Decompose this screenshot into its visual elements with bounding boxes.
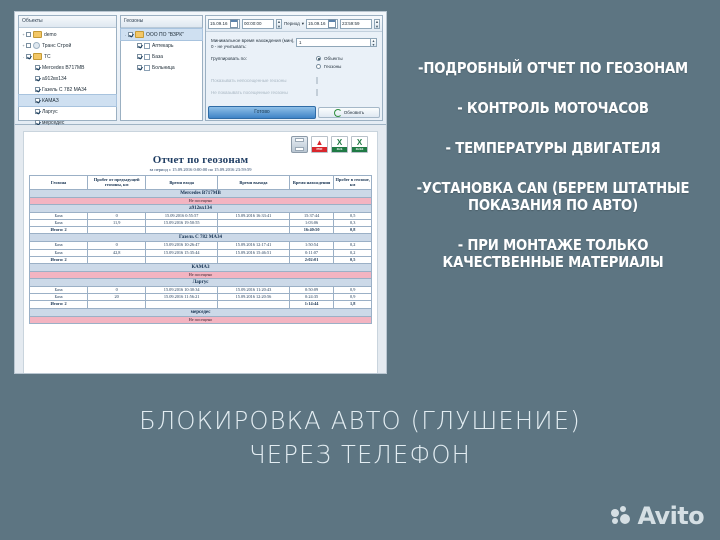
geozone-report-table: ГеозонаПробег от предыдущей геозоны, кмВ…	[29, 175, 372, 324]
hide-visited-setting: Не показывать посещенные геозоны	[211, 90, 377, 96]
geozones-pane-title: Геозоны	[121, 16, 202, 28]
promo-feature-line: - ПРИ МОНТАЖЕ ТОЛЬКО КАЧЕСТВЕННЫЕ МАТЕРИ…	[415, 237, 691, 271]
cell-mileage-prev: 11,9	[88, 220, 146, 227]
tree-item-checkbox[interactable]	[35, 65, 40, 70]
cell-geozone: База	[30, 220, 88, 227]
geozone-icon	[144, 65, 150, 71]
pdf-glyph: ▲	[312, 138, 327, 147]
cell-total-label: Итого: 2	[30, 301, 88, 308]
cell-total-duration: 1:14:44	[289, 301, 333, 308]
cell-duration: 0:50:09	[289, 287, 333, 294]
cell-total-enter	[146, 227, 218, 234]
date-range-toolbar: 15.09.16 00:00:00 ▲▼ Период ▾ 15.09.16 2…	[206, 16, 382, 32]
avito-logo-icon	[611, 506, 633, 526]
promo-feature-line: -УСТАНОВКА CAN (БЕРЕМ ШТАТНЫЕ ПОКАЗАНИЯ …	[415, 180, 691, 214]
objects-pane: Объекты +demo+Транс Строй-ТСMercedes B71…	[18, 15, 117, 121]
refresh-button-label: Обновить	[344, 110, 364, 115]
promo-feature-line: -ПОДРОБНЫЙ ОТЧЕТ ПО ГЕОЗОНАМ	[415, 60, 691, 77]
print-icon[interactable]	[291, 136, 308, 153]
cell-mileage-prev: 20	[88, 294, 146, 301]
cell-exit-time: 15.09.2016 15:46:51	[218, 249, 290, 256]
table-body: Mercedes B717MBНе посещеноa912вх134База0…	[30, 189, 372, 323]
object-tree-item[interactable]: Газель С 782 МА34	[19, 84, 116, 95]
geozone-tree-item[interactable]: Аптекарь	[121, 40, 202, 51]
cell-exit-time	[218, 220, 290, 227]
tree-item-checkbox[interactable]	[35, 76, 40, 81]
objects-pane-title: Объекты	[19, 16, 116, 28]
geozones-pane: Геозоны -ООО ПО "ВЗРК"АптекарьБазаБольни…	[120, 15, 203, 121]
avito-watermark: Avito	[611, 504, 704, 528]
group-header-row: Mercedes B717MB	[30, 189, 372, 197]
tree-item-label: Ларгус	[42, 109, 58, 115]
cell-geozone: База	[30, 242, 88, 249]
group-by-label: Группировать по:	[211, 56, 316, 62]
cell-total-duration: 16:40:50	[289, 227, 333, 234]
cell-mileage-in: 0,3	[334, 220, 372, 227]
object-tree-item[interactable]: a912вх134	[19, 73, 116, 84]
period-label: Период	[284, 21, 300, 26]
tree-item-checkbox[interactable]	[137, 65, 142, 70]
tree-item-label: КАМАЗ	[42, 98, 59, 104]
geozone-icon	[144, 54, 150, 60]
cell-mileage-in: 0,2	[334, 249, 372, 256]
table-column-header: Геозона	[30, 176, 88, 190]
headline-line-2: ЧЕРЕЗ ТЕЛЕФОН	[11, 438, 709, 472]
tree-item-checkbox[interactable]	[26, 43, 31, 48]
time-to-stepper[interactable]: ▲▼	[374, 19, 380, 29]
cell-total-label: Итого: 2	[30, 256, 88, 263]
radio-geozones-label: Геозоны	[324, 64, 341, 69]
cell-mileage-prev: 0	[88, 242, 146, 249]
cell-total-enter	[146, 256, 218, 263]
excel-xls-icon[interactable]: X XLS	[331, 136, 348, 153]
show-unvisited-setting: Показывать непосещенные геозоны	[211, 78, 377, 84]
object-tree-item[interactable]: +Транс Строй	[19, 40, 116, 51]
geozone-tree-item[interactable]: База	[121, 51, 202, 62]
date-from-input[interactable]: 15.09.16	[208, 19, 240, 29]
report-title: Отчет по геозонам	[29, 154, 372, 166]
min-time-input[interactable]: 1	[296, 38, 371, 47]
cell-total-mileage-prev	[88, 301, 146, 308]
promo-features-list: -ПОДРОБНЫЙ ОТЧЕТ ПО ГЕОЗОНАМ- КОНТРОЛЬ М…	[396, 60, 710, 294]
group-name-cell: Газель С 782 МА34	[30, 234, 372, 242]
radio-group-objects[interactable]: Объекты	[316, 56, 343, 61]
headline-line-1: БЛОКИРОВКА АВТО (ГЛУШЕНИЕ)	[11, 404, 709, 438]
export-toolbar: ▲ PDF X XLS X XLSX	[29, 136, 372, 152]
cell-total-duration: 2:02:01	[289, 256, 333, 263]
table-row: База015.09.2016 0:55:5715.09.2016 16:33:…	[30, 212, 372, 219]
table-row: База42,815.09.2016 15:35:4415.09.2016 15…	[30, 249, 372, 256]
refresh-button[interactable]: Обновить	[318, 107, 380, 118]
hide-visited-label: Не показывать посещенные геозоны	[211, 90, 316, 96]
cell-total-mileage-in: 1,8	[334, 301, 372, 308]
tree-item-label: Больница	[152, 65, 175, 71]
time-from-value: 00:00:00	[244, 19, 262, 29]
cell-geozone: База	[30, 249, 88, 256]
excel-xlsx-icon[interactable]: X XLSX	[351, 136, 368, 153]
cell-total-mileage-prev	[88, 256, 146, 263]
min-time-stepper[interactable]: ▲▼	[371, 38, 377, 47]
tree-item-checkbox[interactable]	[35, 87, 40, 92]
settings-action-bar: Готово Обновить	[206, 107, 382, 120]
cell-exit-time: 15.09.2016 11:20:43	[218, 287, 290, 294]
group-name-cell: КАМАЗ	[30, 264, 372, 272]
object-tree-item[interactable]: Mercedes B717MB	[19, 62, 116, 73]
cell-enter-time: 15.09.2016 10:30:34	[146, 287, 218, 294]
report-settings-panel: Объекты +demo+Транс Строй-ТСMercedes B71…	[15, 12, 386, 125]
tree-item-checkbox[interactable]	[35, 98, 40, 103]
hide-visited-checkbox	[316, 89, 318, 96]
tree-item-label: Mercedes B717MB	[42, 65, 85, 71]
cell-exit-time: 15.09.2016 16:33:41	[218, 212, 290, 219]
not-visited-row: Не посещено	[30, 197, 372, 204]
tree-item-checkbox[interactable]	[137, 54, 142, 59]
date-to-value: 15.09.16	[308, 19, 326, 29]
object-tree-item[interactable]: -ТС	[19, 51, 116, 62]
report-sheet: ▲ PDF X XLS X XLSX Отчет по геозонам за …	[23, 131, 378, 374]
min-time-setting: Минимальное время нахождения (мин), 0 - …	[211, 38, 377, 50]
table-row: База11,915.09.2016 19:50:551:03:060,3	[30, 220, 372, 227]
cell-total-mileage-in: 0,5	[334, 256, 372, 263]
group-header-row: Ларгус	[30, 279, 372, 287]
object-tree-item[interactable]: КАМАЗ	[19, 95, 116, 106]
cell-geozone: База	[30, 294, 88, 301]
group-header-row: КАМАЗ	[30, 264, 372, 272]
pdf-icon[interactable]: ▲ PDF	[311, 136, 328, 153]
date-to-input[interactable]: 15.09.16	[306, 19, 338, 29]
cell-mileage-prev: 0	[88, 212, 146, 219]
cell-mileage-prev: 42,8	[88, 249, 146, 256]
table-column-header: Время входа	[146, 176, 218, 190]
object-tree-item[interactable]: Ларгус	[19, 106, 116, 117]
done-button[interactable]: Готово	[208, 106, 316, 119]
tree-item-label: a912вх134	[42, 76, 67, 82]
report-area: ▲ PDF X XLS X XLSX Отчет по геозонам за …	[15, 125, 386, 374]
not-visited-cell: Не посещено	[30, 272, 372, 279]
radio-icon-selected	[316, 56, 321, 61]
folder-icon	[33, 53, 42, 60]
cell-total-enter	[146, 301, 218, 308]
cell-exit-time: 15.09.2016 12:20:56	[218, 294, 290, 301]
cell-total-mileage-in: 0,8	[334, 227, 372, 234]
cell-mileage-in: 0,5	[334, 212, 372, 219]
table-row: База015.09.2016 10:30:3415.09.2016 11:20…	[30, 287, 372, 294]
tree-item-label: demo	[44, 32, 57, 38]
cell-exit-time: 15.09.2016 12:17:41	[218, 242, 290, 249]
cell-enter-time: 15.09.2016 11:56:21	[146, 294, 218, 301]
cell-mileage-in: 0,9	[334, 294, 372, 301]
not-visited-row: Не посещено	[30, 272, 372, 279]
folder-icon	[135, 31, 144, 38]
table-column-header: Пробег в геозоне, км	[334, 176, 372, 190]
xls-tag: XLS	[332, 147, 347, 152]
cell-enter-time: 15.09.2016 15:35:44	[146, 249, 218, 256]
cell-geozone: База	[30, 212, 88, 219]
cell-enter-time: 15.09.2016 10:26:47	[146, 242, 218, 249]
folder-icon	[33, 31, 42, 38]
cell-duration: 1:50:54	[289, 242, 333, 249]
period-dropdown-icon[interactable]: ▾	[302, 21, 304, 27]
objects-tree[interactable]: +demo+Транс Строй-ТСMercedes B717MBa912в…	[19, 28, 116, 128]
group-name-cell: Mercedes B717MB	[30, 189, 372, 197]
avito-watermark-text: Avito	[637, 504, 704, 528]
cell-total-label: Итого: 2	[30, 227, 88, 234]
tree-item-label: Транс Строй	[42, 43, 71, 49]
total-row: Итого: 22:02:010,5	[30, 256, 372, 263]
table-row: База015.09.2016 10:26:4715.09.2016 12:17…	[30, 242, 372, 249]
time-to-value: 23:59:59	[342, 19, 360, 29]
cell-mileage-in: 0,2	[334, 242, 372, 249]
total-row: Итого: 216:40:500,8	[30, 227, 372, 234]
date-from-value: 15.09.16	[210, 19, 228, 29]
promo-feature-line: - КОНТРОЛЬ МОТОЧАСОВ	[415, 100, 691, 117]
cell-mileage-prev: 0	[88, 287, 146, 294]
radio-group-geozones[interactable]: Геозоны	[316, 64, 343, 69]
excel-glyph: X	[352, 138, 367, 147]
time-from-stepper[interactable]: ▲▼	[276, 19, 282, 29]
not-visited-cell: Не посещено	[30, 197, 372, 204]
group-header-row: a912вх134	[30, 204, 372, 212]
time-from-input[interactable]: 00:00:00	[242, 19, 274, 29]
group-header-row: мерседес	[30, 308, 372, 316]
group-header-row: Газель С 782 МА34	[30, 234, 372, 242]
tree-item-label: Аптекарь	[152, 43, 174, 49]
tree-item-checkbox[interactable]	[26, 54, 31, 59]
settings-pane: 15.09.16 00:00:00 ▲▼ Период ▾ 15.09.16 2…	[205, 15, 383, 121]
cell-total-exit	[218, 301, 290, 308]
table-row: База2015.09.2016 11:56:2115.09.2016 12:2…	[30, 294, 372, 301]
radio-icon-unselected	[316, 64, 321, 69]
group-name-cell: a912вх134	[30, 204, 372, 212]
tree-item-label: ООО ПО "ВЗРК"	[146, 32, 184, 38]
tree-item-checkbox[interactable]	[137, 43, 142, 48]
tree-item-checkbox[interactable]	[128, 32, 133, 37]
cell-duration: 15:37:44	[289, 212, 333, 219]
not-visited-cell: Не посещено	[30, 316, 372, 323]
excel-glyph: X	[332, 138, 347, 147]
group-icon	[33, 42, 40, 49]
geozone-tree-item[interactable]: -ООО ПО "ВЗРК"	[121, 29, 202, 40]
cell-enter-time: 15.09.2016 0:55:57	[146, 212, 218, 219]
cell-total-exit	[218, 256, 290, 263]
cell-duration: 0:24:35	[289, 294, 333, 301]
cell-mileage-in: 0,9	[334, 287, 372, 294]
table-column-header: Время выхода	[218, 176, 290, 190]
group-name-cell: мерседес	[30, 308, 372, 316]
group-by-setting: Группировать по: Объекты Геозоны	[211, 56, 377, 72]
table-header-row: ГеозонаПробег от предыдущей геозоны, кмВ…	[30, 176, 372, 190]
tree-item-checkbox[interactable]	[35, 109, 40, 114]
table-column-header: Время нахождения	[289, 176, 333, 190]
geozone-icon	[144, 43, 150, 49]
cell-total-exit	[218, 227, 290, 234]
pdf-tag: PDF	[312, 147, 327, 152]
geozone-tree-item[interactable]: Больница	[121, 62, 202, 73]
cell-enter-time: 15.09.2016 19:50:55	[146, 220, 218, 227]
table-column-header: Пробег от предыдущей геозоны, км	[88, 176, 146, 190]
table-header: ГеозонаПробег от предыдущей геозоны, кмВ…	[30, 176, 372, 190]
total-row: Итого: 21:14:441,8	[30, 301, 372, 308]
cell-duration: 0:11:07	[289, 249, 333, 256]
calendar-icon[interactable]	[328, 19, 336, 28]
tree-item-label: База	[152, 54, 163, 60]
group-name-cell: Ларгус	[30, 279, 372, 287]
cell-total-mileage-prev	[88, 227, 146, 234]
geozones-tree[interactable]: -ООО ПО "ВЗРК"АптекарьБазаБольница	[121, 28, 202, 73]
object-tree-item[interactable]: +demo	[19, 29, 116, 40]
xlsx-tag: XLSX	[352, 147, 367, 152]
tracking-software-screenshot: Объекты +demo+Транс Строй-ТСMercedes B71…	[14, 11, 387, 374]
show-unvisited-checkbox	[316, 77, 318, 84]
headline-block: БЛОКИРОВКА АВТО (ГЛУШЕНИЕ) ЧЕРЕЗ ТЕЛЕФОН	[11, 404, 709, 472]
min-time-label: Минимальное время нахождения (мин), 0 - …	[211, 38, 296, 50]
tree-item-label: Газель С 782 МА34	[42, 87, 87, 93]
promo-feature-line: - ТЕМПЕРАТУРЫ ДВИГАТЕЛЯ	[415, 140, 691, 157]
calendar-icon[interactable]	[230, 19, 238, 28]
time-to-input[interactable]: 23:59:59	[340, 19, 372, 29]
radio-objects-label: Объекты	[324, 56, 343, 61]
show-unvisited-label: Показывать непосещенные геозоны	[211, 78, 316, 84]
tree-item-label: ТС	[44, 54, 51, 60]
cell-duration: 1:03:06	[289, 220, 333, 227]
refresh-icon	[334, 109, 342, 117]
tree-item-checkbox[interactable]	[26, 32, 31, 37]
not-visited-row: Не посещено	[30, 316, 372, 323]
cell-geozone: База	[30, 287, 88, 294]
report-subtitle: за период с 15.09.2016 0:00:00 по 15.09.…	[29, 167, 372, 172]
